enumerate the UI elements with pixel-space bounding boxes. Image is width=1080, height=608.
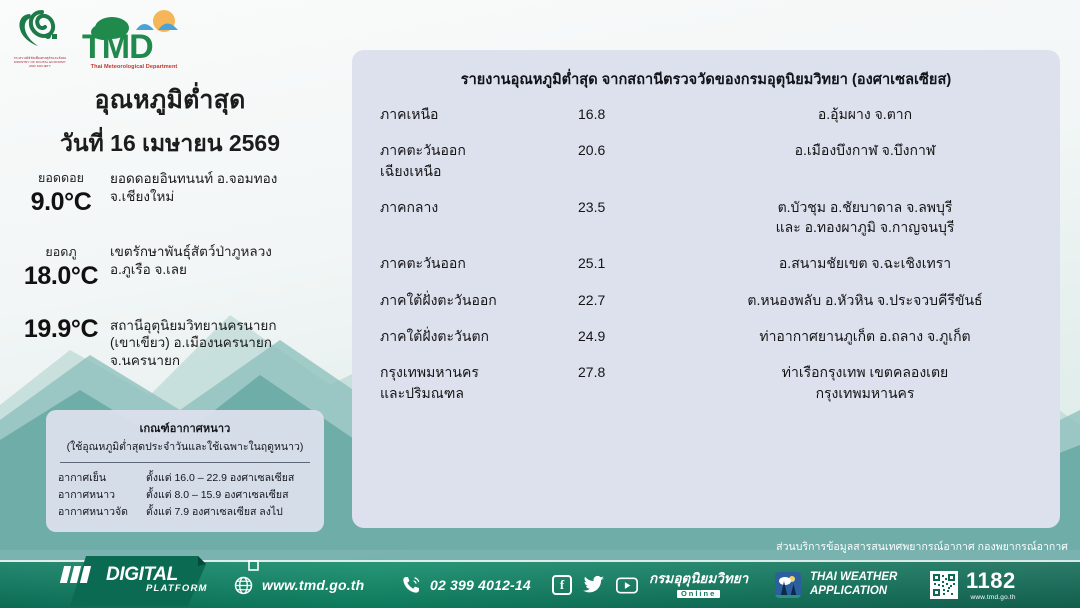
table-cell-temperature: 16.8 xyxy=(578,104,696,124)
table-cell-temperature: 25.1 xyxy=(578,253,696,273)
table-cell-location: ต.หนองพลับ อ.หัวหิน จ.ประจวบคีรีขันธ์ xyxy=(696,290,1046,310)
phone-icon xyxy=(400,574,422,596)
table-cell-region: ภาคเหนือ xyxy=(366,104,578,124)
criteria-row: อากาศหนาวจัด ตั้งแต่ 7.9 องศาเซลเซียส ลง… xyxy=(58,504,312,521)
peak-entry-doi-left: ยอดดอย 9.0°C xyxy=(18,168,104,215)
table-cell-region: กรุงเทพมหานคร และปริมณฑล xyxy=(366,362,578,403)
region-line1: กรุงเทพมหานคร xyxy=(380,362,578,382)
location-line2: และ อ.ทองผาภูมิ จ.กาญจนบุรี xyxy=(696,217,1034,237)
criteria-row-label: อากาศหนาว xyxy=(58,487,146,504)
criteria-row: อากาศหนาว ตั้งแต่ 8.0 – 15.9 องศาเซลเซีย… xyxy=(58,487,312,504)
table-cell-location: ท่าเรือกรุงเทพ เขตคลองเตย กรุงเทพมหานคร xyxy=(696,362,1046,403)
footer-bar: DIGITAL PLATFORM www.tmd.go.th xyxy=(0,562,1080,608)
peak-entry-doi: ยอดดอย 9.0°C ยอดดอยอินทนนท์ อ.จอมทอง จ.เ… xyxy=(0,168,344,215)
digital-platform-badge: DIGITAL PLATFORM xyxy=(48,548,236,608)
peak-entry-doi-description: ยอดดอยอินทนนท์ อ.จอมทอง จ.เชียงใหม่ xyxy=(104,168,277,206)
table-cell-temperature: 22.7 xyxy=(578,290,696,310)
qr-code-icon[interactable] xyxy=(930,571,958,599)
peak-entry-station-desc-line3: จ.นครนายก xyxy=(110,352,277,370)
table-row: ภาคตะวันออก เฉียงเหนือ 20.6 อ.เมืองบึงกา… xyxy=(366,140,1046,181)
report-table: ภาคเหนือ 16.8 อ.อุ้มผาง จ.ตาก ภาคตะวันออ… xyxy=(366,104,1046,403)
twitter-icon[interactable] xyxy=(583,574,605,596)
infographic-canvas: กระทรวงดิจิทัลเพื่อเศรษฐกิจและสังคม MINI… xyxy=(0,0,1080,608)
table-cell-temperature: 24.9 xyxy=(578,326,696,346)
region-line1: ภาคใต้ฝั่งตะวันตก xyxy=(380,326,578,346)
criteria-title: เกณฑ์อากาศหนาว xyxy=(58,419,312,437)
peak-entry-station: 19.9°C สถานีอุตุนิยมวิทยานครนายก (เขาเขี… xyxy=(0,316,344,370)
footer-attribution: ส่วนบริการข้อมูลสารสนเทศพยากรณ์อากาศ กอง… xyxy=(776,538,1068,555)
table-row: ภาคเหนือ 16.8 อ.อุ้มผาง จ.ตาก xyxy=(366,104,1046,124)
peak-entry-phu-left: ยอดภู 18.0°C xyxy=(18,242,104,289)
peak-entry-station-desc-line1: สถานีอุตุนิยมวิทยานครนายก xyxy=(110,317,277,335)
weather-app-icon xyxy=(775,572,801,598)
region-line2: เฉียงเหนือ xyxy=(380,161,578,181)
peak-entry-doi-desc-line2: จ.เชียงใหม่ xyxy=(110,188,277,206)
youtube-icon[interactable] xyxy=(616,574,638,596)
table-row: ภาคตะวันออก 25.1 อ.สนามชัยเขต จ.ฉะเชิงเท… xyxy=(366,253,1046,273)
region-line1: ภาคตะวันออก xyxy=(380,253,578,273)
digital-badge-sub: PLATFORM xyxy=(146,583,208,594)
location-line1: อ.สนามชัยเขต จ.ฉะเชิงเทรา xyxy=(696,253,1034,273)
facebook-icon[interactable]: f xyxy=(552,575,572,595)
logo-row: กระทรวงดิจิทัลเพื่อเศรษฐกิจและสังคม MINI… xyxy=(12,6,190,70)
criteria-divider xyxy=(60,462,310,463)
social-handle: กรมอุตุนิยมวิทยา Online xyxy=(649,572,748,599)
criteria-row-label: อากาศหนาวจัด xyxy=(58,504,146,521)
criteria-row-value: ตั้งแต่ 7.9 องศาเซลเซียส ลงไป xyxy=(146,504,312,521)
region-line1: ภาคตะวันออก xyxy=(380,140,578,160)
weather-app-line1: THAI WEATHER xyxy=(810,571,897,583)
table-cell-region: ภาคใต้ฝั่งตะวันออก xyxy=(366,290,578,310)
table-cell-region: ภาคตะวันออก เฉียงเหนือ xyxy=(366,140,578,181)
thai-weather-application[interactable]: THAI WEATHER APPLICATION xyxy=(775,571,897,598)
website-link[interactable]: www.tmd.go.th xyxy=(232,574,364,596)
report-panel-title: รายงานอุณหภูมิต่ำสุด จากสถานีตรวจวัดของก… xyxy=(366,68,1046,91)
page-title-line2: วันที่ 16 เมษายน 2569 xyxy=(0,126,340,162)
table-row: ภาคใต้ฝั่งตะวันออก 22.7 ต.หนองพลับ อ.หัว… xyxy=(366,290,1046,310)
table-cell-location: ต.บัวชุม อ.ชัยบาดาล จ.ลพบุรี และ อ.ทองผา… xyxy=(696,197,1046,238)
location-line1: ต.บัวชุม อ.ชัยบาดาล จ.ลพบุรี xyxy=(696,197,1034,217)
peak-entry-doi-value: 9.0°C xyxy=(18,189,104,215)
ministry-logo-caption: กระทรวงดิจิทัลเพื่อเศรษฐกิจและสังคม MINI… xyxy=(12,57,68,69)
phone-label: 02 399 4012-14 xyxy=(430,577,531,593)
table-cell-location: อ.เมืองบึงกาฬ จ.บึงกาฬ xyxy=(696,140,1046,160)
table-row: กรุงเทพมหานคร และปริมณฑล 27.8 ท่าเรือกรุ… xyxy=(366,362,1046,403)
digital-badge-bars xyxy=(62,566,89,583)
page-title: อุณหภูมิต่ำสุด วันที่ 16 เมษายน 2569 xyxy=(0,80,340,162)
region-line1: ภาคเหนือ xyxy=(380,104,578,124)
peak-entry-phu-desc-line1: เขตรักษาพันธุ์สัตว์ป่าภูหลวง xyxy=(110,243,272,261)
table-cell-region: ภาคกลาง xyxy=(366,197,578,217)
website-label: www.tmd.go.th xyxy=(262,577,364,593)
table-cell-location: ท่าอากาศยานภูเก็ต อ.ถลาง จ.ภูเก็ต xyxy=(696,326,1046,346)
weather-app-label: THAI WEATHER APPLICATION xyxy=(810,571,897,598)
svg-text:TMD: TMD xyxy=(82,28,153,66)
table-cell-temperature: 20.6 xyxy=(578,140,696,160)
social-handle-text: กรมอุตุนิยมวิทยา xyxy=(649,571,748,586)
peak-entry-doi-tag: ยอดดอย xyxy=(18,168,104,188)
criteria-subtitle: (ใช้อุณหภูมิต่ำสุดประจำวันและใช้เฉพาะในฤ… xyxy=(58,438,312,455)
page-title-line1: อุณหภูมิต่ำสุด xyxy=(0,80,340,120)
region-line2: และปริมณฑล xyxy=(380,383,578,403)
peak-entry-phu: ยอดภู 18.0°C เขตรักษาพันธุ์สัตว์ป่าภูหลว… xyxy=(0,242,344,289)
location-line1: ท่าเรือกรุงเทพ เขตคลองเตย xyxy=(696,362,1034,382)
tmd-logo-caption: Thai Meteorological Department xyxy=(78,64,190,70)
criteria-row-label: อากาศเย็น xyxy=(58,470,146,487)
location-line1: ท่าอากาศยานภูเก็ต อ.ถลาง จ.ภูเก็ต xyxy=(696,326,1034,346)
location-line1: ต.หนองพลับ อ.หัวหิน จ.ประจวบคีรีขันธ์ xyxy=(696,290,1034,310)
peak-entry-station-left: 19.9°C xyxy=(18,316,104,342)
location-line1: อ.เมืองบึงกาฬ จ.บึงกาฬ xyxy=(696,140,1034,160)
weather-app-line2: APPLICATION xyxy=(810,585,887,597)
region-line1: ภาคใต้ฝั่งตะวันออก xyxy=(380,290,578,310)
table-cell-region: ภาคใต้ฝั่งตะวันตก xyxy=(366,326,578,346)
peak-entry-station-value: 19.9°C xyxy=(18,316,104,342)
location-line2: กรุงเทพมหานคร xyxy=(696,383,1034,403)
peak-entry-station-description: สถานีอุตุนิยมวิทยานครนายก (เขาเขียว) อ.เ… xyxy=(104,316,277,370)
table-cell-region: ภาคตะวันออก xyxy=(366,253,578,273)
phone-contact[interactable]: 02 399 4012-14 xyxy=(400,574,531,596)
table-cell-temperature: 23.5 xyxy=(578,197,696,217)
hotline-block: 1182 www.tmd.go.th xyxy=(930,570,1016,601)
table-cell-location: อ.สนามชัยเขต จ.ฉะเชิงเทรา xyxy=(696,253,1046,273)
peak-entry-phu-tag: ยอดภู xyxy=(18,242,104,262)
peak-temperature-list: ยอดดอย 9.0°C ยอดดอยอินทนนท์ อ.จอมทอง จ.เ… xyxy=(0,168,344,370)
peak-entry-phu-desc-line2: อ.ภูเรือ จ.เลย xyxy=(110,261,272,279)
table-cell-location: อ.อุ้มผาง จ.ตาก xyxy=(696,104,1046,124)
criteria-row: อากาศเย็น ตั้งแต่ 16.0 – 22.9 องศาเซลเซี… xyxy=(58,470,312,487)
tmd-logo: TMD Thai Meteorological Department xyxy=(78,8,190,70)
table-row: ภาคใต้ฝั่งตะวันตก 24.9 ท่าอากาศยานภูเก็ต… xyxy=(366,326,1046,346)
criteria-row-value: ตั้งแต่ 16.0 – 22.9 องศาเซลเซียส xyxy=(146,470,312,487)
report-panel: รายงานอุณหภูมิต่ำสุด จากสถานีตรวจวัดของก… xyxy=(352,50,1060,528)
criteria-row-value: ตั้งแต่ 8.0 – 15.9 องศาเซลเซียส xyxy=(146,487,312,504)
ministry-logo: กระทรวงดิจิทัลเพื่อเศรษฐกิจและสังคม MINI… xyxy=(12,6,68,70)
social-handle-chip: Online xyxy=(677,590,720,598)
hotline-number: 1182 xyxy=(966,568,1016,593)
hotline-number-block: 1182 www.tmd.go.th xyxy=(966,570,1016,601)
peak-entry-phu-description: เขตรักษาพันธุ์สัตว์ป่าภูหลวง อ.ภูเรือ จ.… xyxy=(104,242,272,279)
hotline-website: www.tmd.go.th xyxy=(966,594,1016,601)
peak-entry-station-desc-line2: (เขาเขียว) อ.เมืองนครนายก xyxy=(110,334,277,352)
location-line1: อ.อุ้มผาง จ.ตาก xyxy=(696,104,1034,124)
globe-icon xyxy=(232,574,254,596)
peak-entry-phu-value: 18.0°C xyxy=(18,263,104,289)
cold-weather-criteria-box: เกณฑ์อากาศหนาว (ใช้อุณหภูมิต่ำสุดประจำวั… xyxy=(46,410,324,532)
table-cell-temperature: 27.8 xyxy=(578,362,696,382)
social-links: f กรมอุตุนิยมวิทยา Online xyxy=(552,572,748,599)
region-line1: ภาคกลาง xyxy=(380,197,578,217)
peak-entry-doi-desc-line1: ยอดดอยอินทนนท์ อ.จอมทอง xyxy=(110,170,277,188)
table-row: ภาคกลาง 23.5 ต.บัวชุม อ.ชัยบาดาล จ.ลพบุร… xyxy=(366,197,1046,238)
